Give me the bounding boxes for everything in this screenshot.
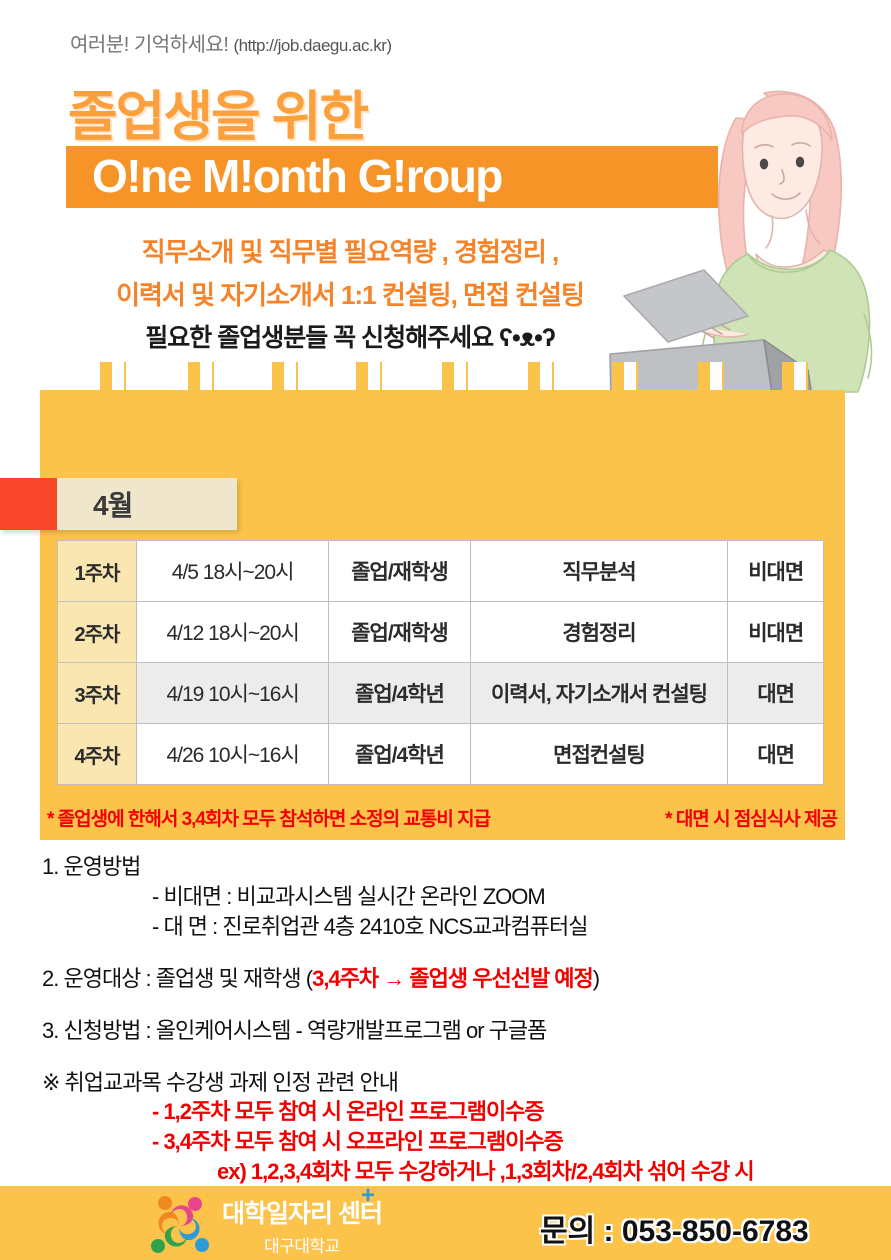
cell-week: 3주차 (58, 663, 137, 724)
schedule-notes: * 졸업생에 한해서 3,4회차 모두 참석하면 소정의 교통비 지급 * 대면… (47, 802, 837, 832)
plus-icon: + (361, 1182, 374, 1210)
detail-3-apply: 3. 신청방법 : 올인케어시스템 - 역량개발프로그램 or 구글폼 (42, 1016, 872, 1046)
cell-topic: 직무분석 (470, 541, 728, 602)
logo-text-block: 대학일자리 센터 + 대구대학교 (222, 1194, 382, 1257)
table-row: 3주차4/19 10시~16시졸업/4학년이력서, 자기소개서 컨설팅대면 (58, 663, 824, 724)
site-url: (http://job.daegu.ac.kr) (233, 36, 391, 55)
detail-2-target: 2. 운영대상 : 졸업생 및 재학생 (3,4주차 → 졸업생 우선선발 예정… (42, 964, 872, 994)
schedule-table: 1주차4/5 18시~20시졸업/재학생직무분석비대면2주차4/12 18시~2… (57, 540, 824, 785)
notice-line-2: - 3,4주차 모두 참여 시 오프라인 프로그램이수증 (42, 1127, 872, 1157)
month-label: 4월 (93, 484, 132, 524)
cell-mode: 대면 (728, 663, 824, 724)
month-tab[interactable]: 4월 (57, 478, 237, 530)
table-row: 1주차4/5 18시~20시졸업/재학생직무분석비대면 (58, 541, 824, 602)
page-title: 졸업생을 위한 (68, 72, 367, 151)
accent-square (0, 478, 58, 530)
poster-root: 여러분! 기억하세요! (http://job.daegu.ac.kr) 졸업생… (0, 0, 891, 1260)
banner-title: O!ne M!onth G!roup (92, 149, 502, 203)
logo-name-text: 대학일자리 센터 (222, 1200, 382, 1228)
table-row: 2주차4/12 18시~20시졸업/재학생경험정리비대면 (58, 602, 824, 663)
subtitle-line-3: 필요한 졸업생분들 꼭 신청해주세요 ʕ•ᴥ•ʔ (0, 318, 700, 354)
logo-university: 대구대학교 (222, 1232, 382, 1257)
cell-date: 4/26 10시~16시 (136, 724, 328, 785)
cell-who: 졸업/4학년 (329, 663, 470, 724)
contact-phone: 문의 : 053-850-6783 (540, 1206, 809, 1250)
subtitle-line-1: 직무소개 및 직무별 필요역량 , 경험정리 , (0, 232, 700, 269)
organization-logo: 대학일자리 센터 + 대구대학교 (148, 1194, 382, 1257)
cell-mode: 비대면 (728, 541, 824, 602)
cell-who: 졸업/4학년 (329, 724, 470, 785)
note-transport: * 졸업생에 한해서 3,4회차 모두 참석하면 소정의 교통비 지급 (47, 804, 490, 831)
detail-1-offline: - 대 면 : 진로취업관 4층 2410호 NCS교과컴퓨터실 (42, 912, 872, 942)
cell-who: 졸업/재학생 (329, 541, 470, 602)
cell-topic: 경험정리 (470, 602, 728, 663)
cell-topic: 면접컨설팅 (470, 724, 728, 785)
cell-date: 4/12 18시~20시 (136, 602, 328, 663)
tagline: 여러분! 기억하세요! (http://job.daegu.ac.kr) (70, 28, 392, 57)
logo-name: 대학일자리 센터 + (222, 1194, 382, 1230)
detail-2-prefix: 2. 운영대상 : 졸업생 및 재학생 ( (42, 966, 312, 991)
subtitle-line-2: 이력서 및 자기소개서 1:1 컨설팅, 면접 컨설팅 (0, 275, 700, 312)
cell-week: 2주차 (58, 602, 137, 663)
cell-week: 1주차 (58, 541, 137, 602)
detail-2-suffix: ) (593, 966, 599, 991)
table-row: 4주차4/26 10시~16시졸업/4학년면접컨설팅대면 (58, 724, 824, 785)
detail-1-online: - 비대면 : 비교과시스템 실시간 온라인 ZOOM (42, 882, 872, 912)
cell-date: 4/19 10시~16시 (136, 663, 328, 724)
notice-line-1: - 1,2주차 모두 참여 시 온라인 프로그램이수증 (42, 1097, 872, 1127)
cell-who: 졸업/재학생 (329, 602, 470, 663)
cell-week: 4주차 (58, 724, 137, 785)
cell-topic: 이력서, 자기소개서 컨설팅 (470, 663, 728, 724)
detail-1-title: 1. 운영방법 (42, 852, 872, 882)
cell-date: 4/5 18시~20시 (136, 541, 328, 602)
cell-mode: 대면 (728, 724, 824, 785)
cell-mode: 비대면 (728, 602, 824, 663)
notice-line-3: ex) 1,2,3,4회차 모두 수강하거나 ,1,3회차/2,4회차 섞어 수… (42, 1157, 872, 1187)
pinwheel-icon (148, 1195, 210, 1257)
tagline-text: 여러분! 기억하세요! (70, 34, 228, 56)
notice-title: ※ 취업교과목 수강생 과제 인정 관련 안내 (42, 1068, 872, 1098)
detail-2-highlight: 3,4주차 → 졸업생 우선선발 예정 (312, 966, 593, 991)
details-section: 1. 운영방법 - 비대면 : 비교과시스템 실시간 온라인 ZOOM - 대 … (42, 852, 872, 1217)
note-lunch: * 대면 시 점심식사 제공 (665, 804, 837, 831)
